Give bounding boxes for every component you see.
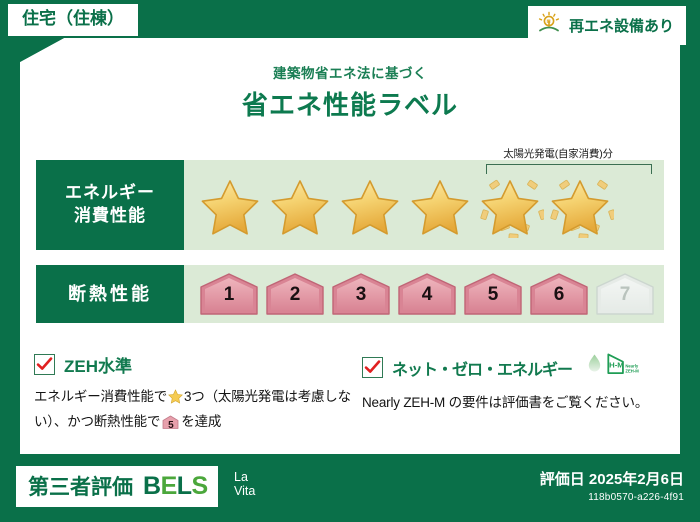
solar-annotation: 太陽光発電(自家消費)分 [458, 146, 658, 161]
heading-title: 省エネ性能ラベル [20, 85, 680, 122]
evaluation-id: 118b0570-a226-4f91 [540, 492, 684, 503]
bels-certification-mark: 第三者評価 BELS [16, 466, 218, 507]
solar-bracket [486, 164, 652, 174]
insulation-grade-badge: 4 [396, 272, 458, 316]
insulation-grade-value: 3 [330, 284, 392, 306]
insulation-grade-value: 2 [264, 284, 326, 306]
third-party-label: 第三者評価 [28, 471, 133, 501]
solar-annotation-label: 太陽光発電(自家消費)分 [458, 146, 658, 161]
insulation-row-label: 断熱性能 [36, 265, 184, 323]
check-icon [364, 359, 381, 376]
insulation-grade-value: 4 [396, 284, 458, 306]
housing-type-tag: 住宅（住棟） [8, 4, 138, 36]
energy-performance-row: エネルギー 消費性能 太陽光発電(自家消費)分 [36, 160, 664, 250]
brand-name: La Vita [234, 470, 255, 499]
zeh-heading: ZEH水準 [34, 352, 354, 377]
zeh-m-logo: H-M Nearly ZEH-M [587, 352, 641, 383]
nzeb-heading: ネット・ゼロ・エネルギー H-M Nearly ZEH-M [362, 352, 674, 383]
renewable-energy-badge: 再エネ設備あり [528, 6, 686, 45]
sun-energy-icon [536, 11, 562, 40]
insulation-grade-badge: 2 [264, 272, 326, 316]
brand-line1: La [234, 470, 255, 484]
check-icon [36, 356, 53, 373]
label-heading: 建築物省エネ法に基づく 省エネ性能ラベル [20, 62, 680, 122]
energy-row-label-line1: エネルギー [65, 182, 155, 205]
zeh-checkbox[interactable] [34, 354, 55, 375]
star-solar [546, 172, 614, 238]
zeh-title: ZEH水準 [64, 352, 132, 377]
insulation-row-body: 1234567 [184, 265, 664, 323]
evaluation-date: 評価日 2025年2月6日 [540, 468, 684, 489]
zeh-desc-post: を達成 [181, 414, 221, 429]
star-rating [184, 172, 614, 238]
insulation-grade-value: 6 [528, 284, 590, 306]
nzeb-checkbox[interactable] [362, 357, 383, 378]
footer-bar: 第三者評価 BELS La Vita 評価日 2025年2月6日 118b057… [0, 454, 700, 522]
heading-subtitle: 建築物省エネ法に基づく [20, 62, 680, 82]
insulation-grade-value: 7 [594, 284, 656, 306]
bels-wordmark: BELS [143, 472, 208, 501]
inline-grade-house-icon: 5 [162, 415, 179, 437]
energy-performance-label: 住宅（住棟） 再エネ設備あり 建築物省エネ法に基づく 省エネ性能ラベル [0, 0, 700, 522]
insulation-grade-badge: 1 [198, 272, 260, 316]
brand-line2: Vita [234, 484, 255, 498]
insulation-grade-scale: 1234567 [184, 272, 656, 316]
energy-row-body: 太陽光発電(自家消費)分 [184, 160, 664, 250]
zeh-section: ZEH水準 エネルギー消費性能で3つ（太陽光発電は考慮しない）、かつ断熱性能で5… [34, 352, 354, 437]
nzeb-title: ネット・ゼロ・エネルギー [392, 356, 572, 380]
inline-grade-value: 5 [162, 418, 179, 434]
inline-star-icon [168, 389, 183, 411]
star-filled [336, 172, 404, 238]
insulation-grade-value: 5 [462, 284, 524, 306]
insulation-grade-badge: 5 [462, 272, 524, 316]
star-filled [196, 172, 264, 238]
insulation-grade-badge: 6 [528, 272, 590, 316]
nzeb-description: Nearly ZEH-M の要件は評価書をご覧ください。 [362, 392, 674, 414]
svg-text:H-M: H-M [609, 360, 624, 369]
insulation-grade-value: 1 [198, 284, 260, 306]
insulation-grade-badge: 3 [330, 272, 392, 316]
evaluation-info: 評価日 2025年2月6日 118b0570-a226-4f91 [540, 468, 684, 503]
insulation-grade-badge: 7 [594, 272, 656, 316]
energy-row-label-line2: 消費性能 [74, 205, 146, 228]
net-zero-energy-section: ネット・ゼロ・エネルギー H-M Nearly ZEH-M [362, 352, 674, 414]
star-filled [406, 172, 474, 238]
energy-row-label: エネルギー 消費性能 [36, 160, 184, 250]
star-solar [476, 172, 544, 238]
star-filled [266, 172, 334, 238]
zeh-m-logo-sub2: ZEH-M [625, 368, 639, 373]
zeh-desc-pre: エネルギー消費性能で [34, 389, 167, 404]
renewable-badge-label: 再エネ設備あり [569, 15, 674, 36]
insulation-performance-row: 断熱性能 1234567 [36, 265, 664, 323]
zeh-description: エネルギー消費性能で3つ（太陽光発電は考慮しない）、かつ断熱性能で5を達成 [34, 386, 354, 437]
